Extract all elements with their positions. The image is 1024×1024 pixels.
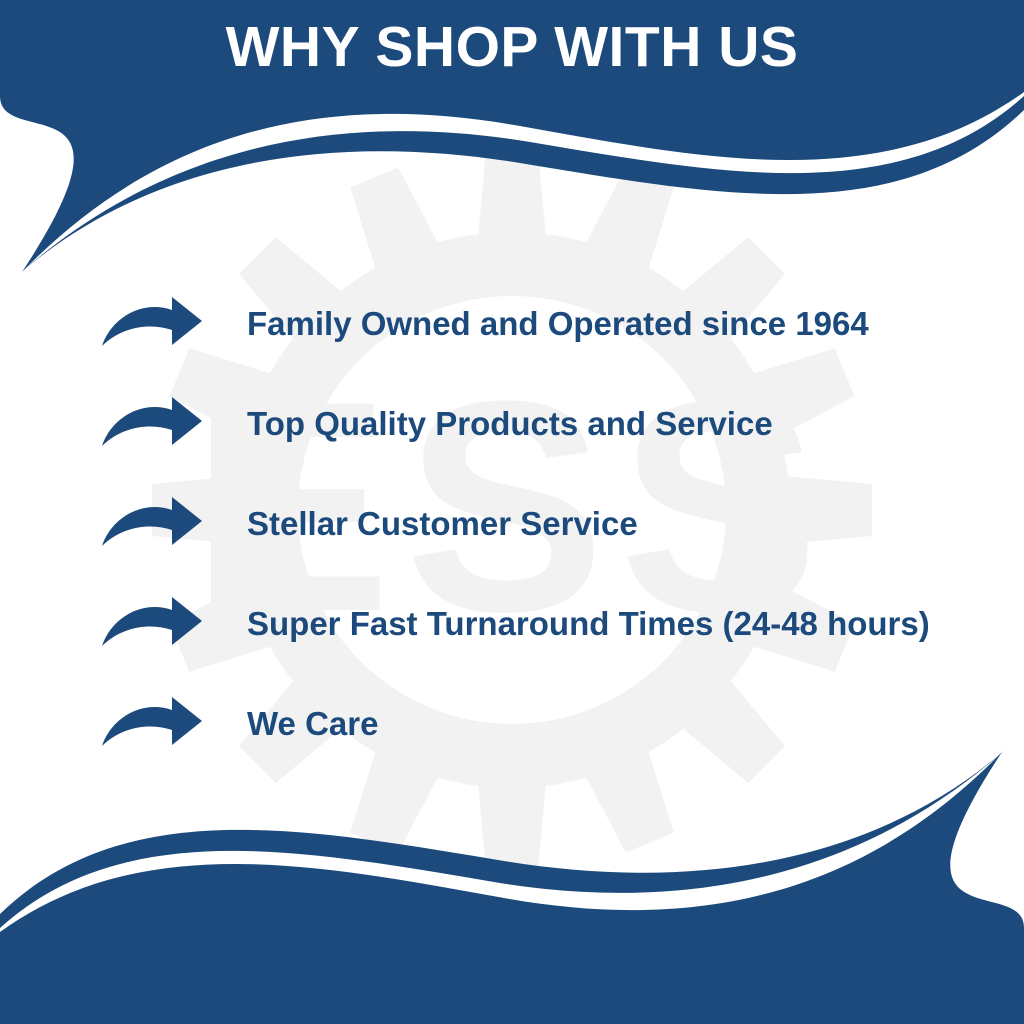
list-item: Family Owned and Operated since 1964 (100, 296, 980, 352)
list-item-label: We Care (247, 706, 378, 742)
list-item: Top Quality Products and Service (100, 396, 980, 452)
top-wave-ribbon (18, 96, 1024, 275)
bottom-wave-ribbon (0, 749, 1006, 928)
curved-arrow-right-icon (100, 496, 204, 552)
curved-arrow-right-icon (100, 596, 204, 652)
list-item-label: Family Owned and Operated since 1964 (247, 306, 869, 342)
header-band: WHY SHOP WITH US (0, 0, 1024, 95)
poster-canvas: ESS WHY SHOP WITH US Family Owned and Op… (0, 0, 1024, 1024)
list-item: Stellar Customer Service (100, 496, 980, 552)
list-item-label: Super Fast Turnaround Times (24-48 hours… (247, 606, 930, 642)
curved-arrow-right-icon (100, 296, 204, 352)
benefits-list: Family Owned and Operated since 1964 Top… (100, 296, 980, 752)
bottom-wave-band (0, 752, 1024, 1024)
curved-arrow-right-icon (100, 396, 204, 452)
list-item-label: Stellar Customer Service (247, 506, 638, 542)
list-item: We Care (100, 696, 980, 752)
curved-arrow-right-icon (100, 696, 204, 752)
list-item: Super Fast Turnaround Times (24-48 hours… (100, 596, 980, 652)
page-title: WHY SHOP WITH US (226, 19, 799, 76)
list-item-label: Top Quality Products and Service (247, 406, 773, 442)
